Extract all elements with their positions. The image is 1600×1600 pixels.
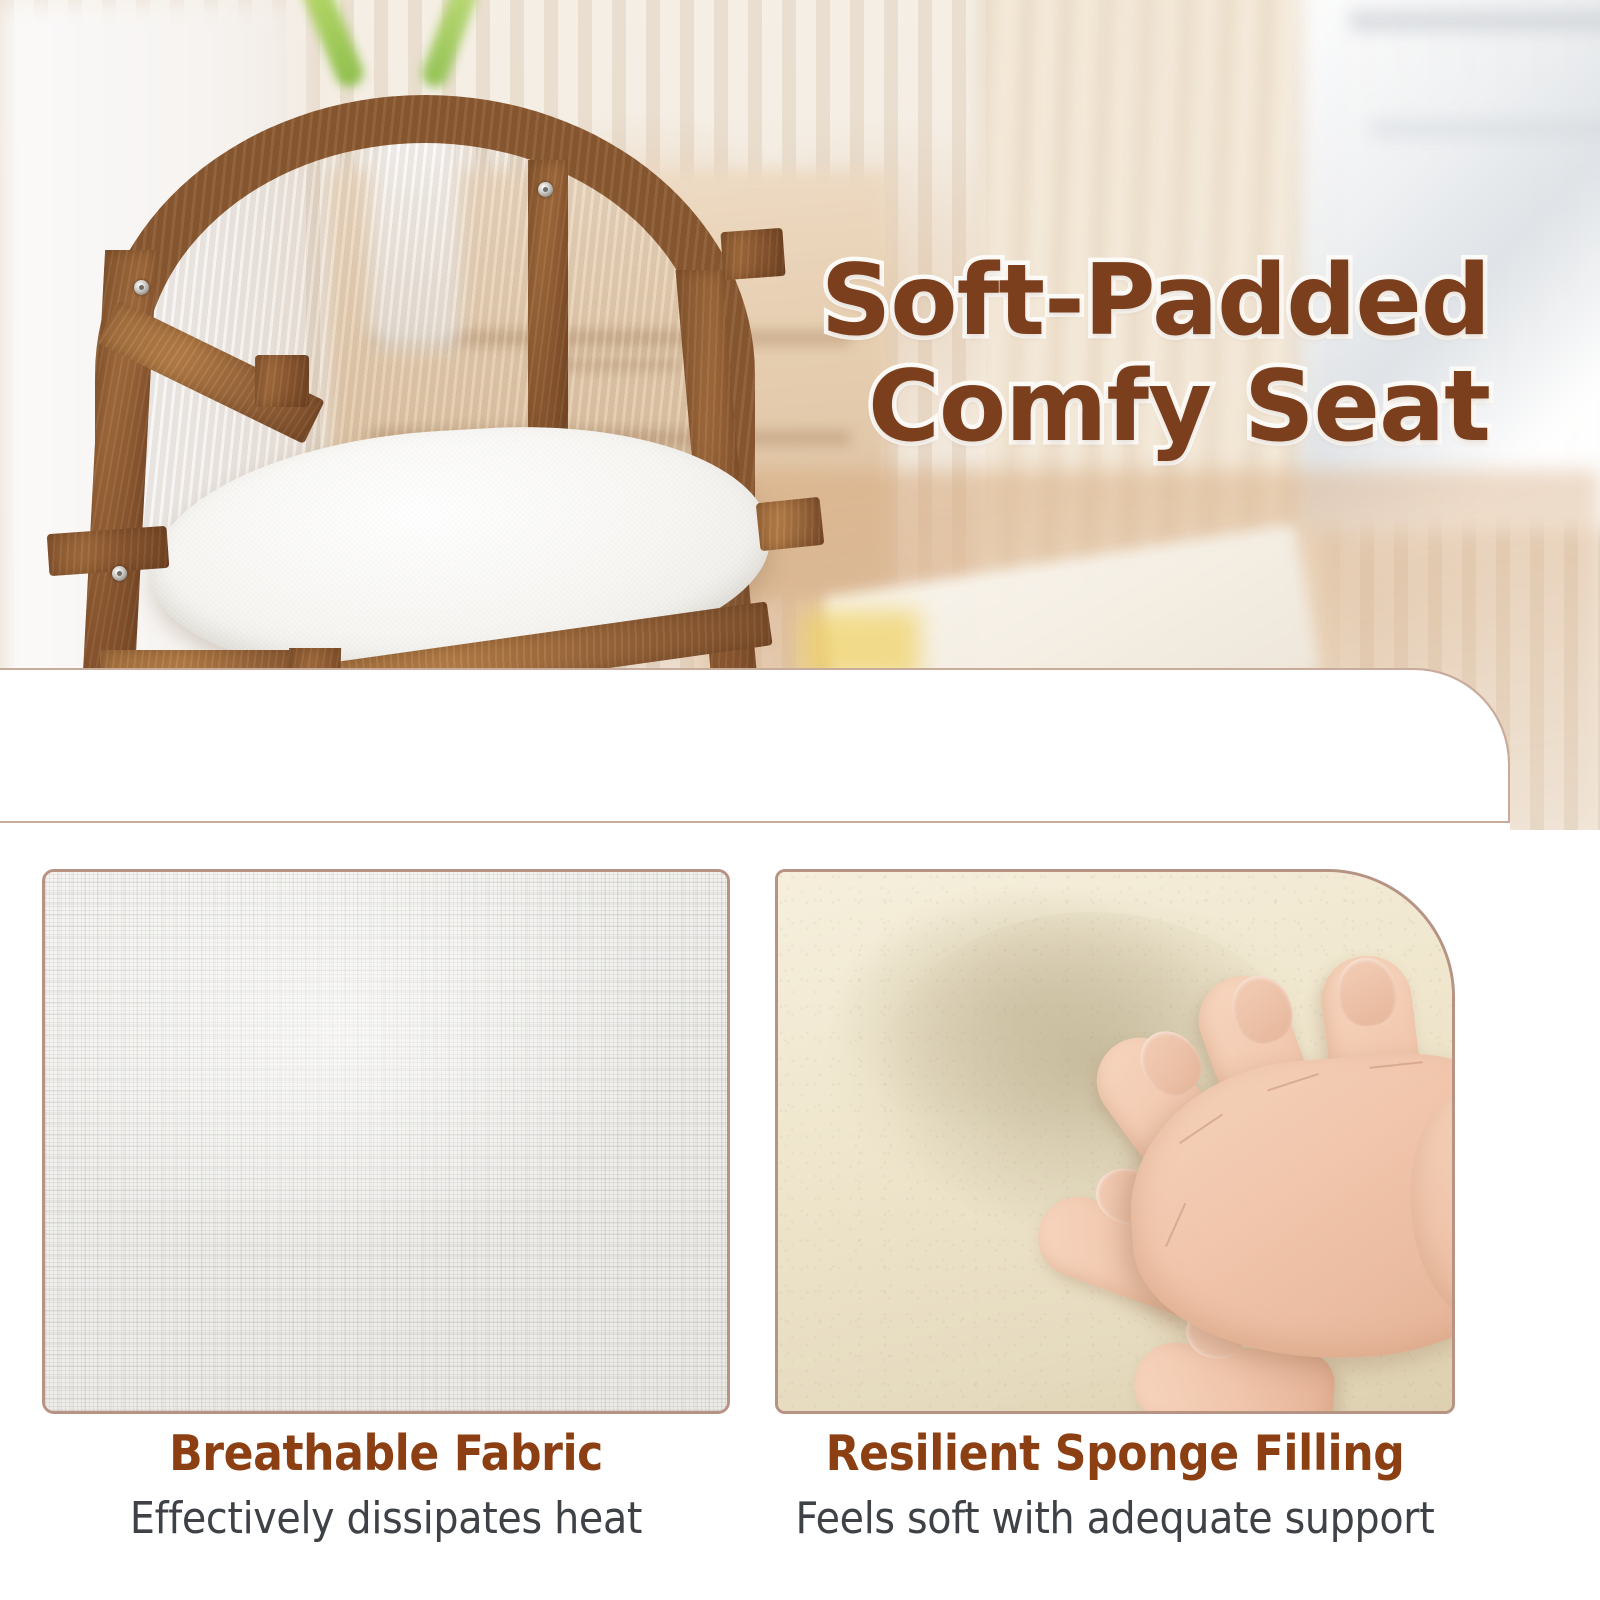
chair-arm-cap-right [720, 228, 785, 280]
hand [829, 869, 1455, 1414]
caption-subtitle: Effectively dissipates heat [42, 1495, 730, 1543]
feature-captions: Breathable Fabric Effectively dissipates… [0, 1428, 1510, 1600]
caption-title: Resilient Sponge Filling [775, 1428, 1455, 1479]
chair-arm-cap-left [255, 355, 309, 407]
shelf-second [1370, 120, 1600, 138]
headline-line-2: Comfy Seat [821, 358, 1490, 456]
chair-seat-rail-left [47, 526, 170, 576]
caption-resilient-sponge-filling: Resilient Sponge Filling Feels soft with… [775, 1428, 1455, 1544]
caption-subtitle: Feels soft with adequate support [775, 1495, 1455, 1543]
chair-seat-corner-right [756, 497, 825, 551]
screw-icon [538, 182, 553, 197]
panel-rounded-corner [0, 668, 1510, 820]
feature-image-resilient-sponge-filling [775, 869, 1455, 1414]
caption-breathable-fabric: Breathable Fabric Effectively dissipates… [42, 1428, 730, 1544]
screw-icon [134, 280, 149, 295]
headline: Soft-Padded Comfy Seat [821, 252, 1490, 456]
product-feature-banner: Soft-Padded Comfy Seat [0, 0, 1600, 1600]
screw-icon [112, 566, 127, 581]
feature-image-breathable-fabric [42, 869, 730, 1414]
fabric-highlight [45, 872, 727, 1411]
headline-line-1: Soft-Padded [821, 244, 1490, 358]
panel-top-divider [0, 821, 1510, 823]
shelf-top [1350, 10, 1600, 32]
caption-title: Breathable Fabric [42, 1428, 730, 1479]
